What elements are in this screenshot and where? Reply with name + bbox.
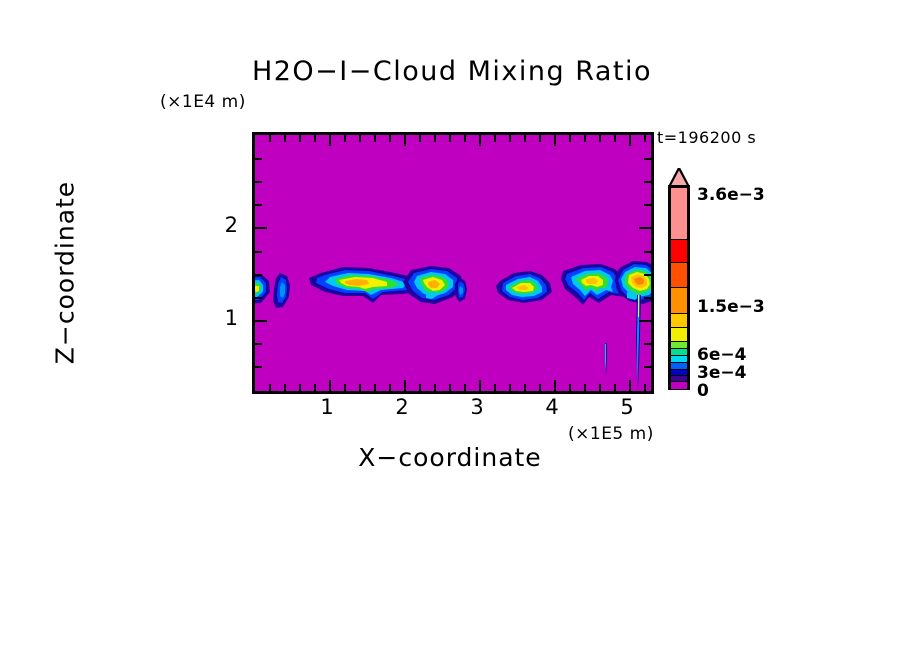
- x-tick-top-minor: [284, 135, 286, 142]
- cloud-cell-5: [488, 267, 560, 311]
- x-tick-top-major: [629, 135, 631, 146]
- x-tick-top-minor: [569, 135, 571, 142]
- x-tick-minor: [434, 384, 436, 391]
- colorbar-band-14: [671, 188, 687, 239]
- x-tick-top-minor: [449, 135, 451, 142]
- x-tick-major-3: [479, 380, 481, 391]
- y-tick-minor: [255, 274, 262, 276]
- colorbar-label-3e-4: 3e−4: [697, 363, 746, 383]
- x-tick-major-5: [629, 380, 631, 391]
- x-tick-top-minor: [389, 135, 391, 142]
- y-axis-title: Z−coordinate: [51, 153, 80, 393]
- x-tick-top-minor: [614, 135, 616, 142]
- precip-streak-small: [601, 343, 611, 379]
- x-tick-minor: [359, 384, 361, 391]
- x-tick-major-1: [329, 380, 331, 391]
- x-tick-top-minor: [509, 135, 511, 142]
- x-tick-minor: [494, 384, 496, 391]
- x-tick-top-major: [329, 135, 331, 146]
- x-tick-minor: [449, 384, 451, 391]
- x-axis-unit-label: (×1E5 m): [568, 424, 654, 444]
- y-tick-minor: [255, 181, 262, 183]
- x-tick-top-minor: [299, 135, 301, 142]
- x-tick-minor: [569, 384, 571, 391]
- x-tick-minor: [644, 384, 646, 391]
- contour-plot-area: [252, 132, 654, 394]
- colorbar-band-11: [671, 288, 687, 314]
- y-tick-right-major: [639, 320, 651, 322]
- x-tick-top-minor: [314, 135, 316, 142]
- x-tick-top-minor: [644, 135, 646, 142]
- colorbar-label-3_6e-3: 3.6e−3: [697, 185, 765, 205]
- contour-field: [255, 135, 651, 391]
- y-tick-minor: [255, 366, 262, 368]
- page-title: H2O−I−Cloud Mixing Ratio: [0, 56, 904, 87]
- x-tick-minor: [419, 384, 421, 391]
- x-tick-top-minor: [359, 135, 361, 142]
- y-tick-minor: [255, 251, 262, 253]
- x-tick-major-2: [404, 380, 406, 391]
- colorbar-band-9: [671, 328, 687, 342]
- y-tick-minor: [255, 158, 262, 160]
- y-tick-right-minor: [644, 366, 651, 368]
- x-tick-major-4: [554, 380, 556, 391]
- cloud-cell-1: [270, 271, 296, 311]
- x-tick-top-minor: [374, 135, 376, 142]
- x-tick-label-5: 5: [612, 395, 642, 419]
- x-tick-label-3: 3: [462, 395, 492, 419]
- x-tick-minor: [614, 384, 616, 391]
- y-tick-right-minor: [644, 343, 651, 345]
- x-tick-top-minor: [524, 135, 526, 142]
- x-tick-top-minor: [584, 135, 586, 142]
- x-tick-minor: [344, 384, 346, 391]
- y-tick-major-1: [255, 320, 267, 322]
- y-tick-right-minor: [644, 158, 651, 160]
- x-tick-minor: [599, 384, 601, 391]
- x-tick-minor: [374, 384, 376, 391]
- y-tick-right-minor: [644, 274, 651, 276]
- timestamp-label: t=196200 s: [657, 128, 756, 147]
- y-tick-right-minor: [644, 251, 651, 253]
- x-tick-top-minor: [269, 135, 271, 142]
- x-tick-minor: [539, 384, 541, 391]
- x-tick-top-minor: [494, 135, 496, 142]
- y-tick-right-major: [639, 227, 651, 229]
- colorbar-band-12: [671, 263, 687, 288]
- colorbar-band-2: [671, 382, 687, 389]
- y-tick-right-minor: [644, 297, 651, 299]
- x-tick-minor: [269, 384, 271, 391]
- colorbar-band-10: [671, 314, 687, 328]
- colorbar-label-1_5e-3: 1.5e−3: [697, 297, 765, 317]
- y-tick-label-2: 2: [208, 213, 238, 237]
- x-tick-top-minor: [419, 135, 421, 142]
- x-tick-top-minor: [434, 135, 436, 142]
- y-tick-right-minor: [644, 204, 651, 206]
- y-tick-minor: [255, 297, 262, 299]
- x-tick-top-major: [479, 135, 481, 146]
- x-axis-title: X−coordinate: [250, 443, 650, 472]
- x-tick-minor: [314, 384, 316, 391]
- y-tick-minor: [255, 343, 262, 345]
- x-tick-minor: [299, 384, 301, 391]
- x-tick-label-4: 4: [537, 395, 567, 419]
- y-axis-unit-label: (×1E4 m): [160, 92, 246, 112]
- x-tick-label-2: 2: [387, 395, 417, 419]
- x-tick-minor: [284, 384, 286, 391]
- x-tick-top-minor: [464, 135, 466, 142]
- colorbar-label-0: 0: [697, 381, 709, 401]
- x-tick-minor: [464, 384, 466, 391]
- colorbar-label-6e-4: 6e−4: [697, 345, 746, 365]
- cloud-cell-4: [451, 275, 473, 305]
- y-tick-label-1: 1: [208, 306, 238, 330]
- y-tick-major-2: [255, 227, 267, 229]
- x-tick-top-minor: [539, 135, 541, 142]
- x-tick-label-1: 1: [312, 395, 342, 419]
- x-tick-minor: [524, 384, 526, 391]
- x-tick-top-minor: [344, 135, 346, 142]
- x-tick-minor: [584, 384, 586, 391]
- y-tick-right-minor: [644, 181, 651, 183]
- x-tick-minor: [509, 384, 511, 391]
- x-tick-minor: [389, 384, 391, 391]
- x-tick-top-major: [554, 135, 556, 146]
- colorbar-band-13: [671, 240, 687, 263]
- x-tick-top-minor: [599, 135, 601, 142]
- colorbar: [668, 185, 690, 390]
- x-tick-top-major: [404, 135, 406, 146]
- y-tick-minor: [255, 204, 262, 206]
